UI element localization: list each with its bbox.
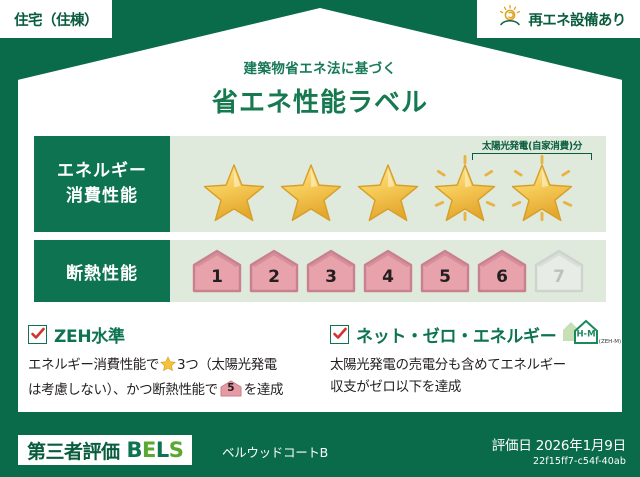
bels-letter-b: B: [127, 438, 143, 462]
net-zero-energy-header: ネット・ゼロ・エネルギー H-M (ZEH-M): [330, 322, 620, 346]
evaluation-info: 評価日 2026年1月9日 22f15ff7-c54f-40ab: [492, 434, 626, 467]
star-icon: [197, 152, 271, 224]
insulation-grade-badge: 6: [476, 249, 528, 293]
sun-icon: [497, 4, 523, 34]
inline-grade-badge: 5: [220, 380, 242, 397]
inline-grade-value: 5: [220, 380, 242, 397]
insulation-grade-badge: 7: [533, 249, 585, 293]
bels-letter-e: E: [142, 438, 156, 462]
bels-wordmark: BELS: [127, 438, 184, 462]
insulation-grade-value: 4: [382, 267, 394, 293]
star-rating: 太陽光発電(自家消費)分: [170, 136, 606, 232]
third-party-label: 第三者評価: [27, 437, 120, 464]
insulation-grade-value: 2: [268, 267, 280, 293]
net-zero-energy-body-line2: 収支がゼロ以下を達成: [330, 379, 461, 395]
renewable-equipment-chip: 再エネ設備あり: [477, 0, 640, 38]
zeh-checkbox: [28, 325, 47, 344]
insulation-grade-value: 7: [553, 267, 565, 293]
evaluation-date-label: 評価日: [492, 438, 532, 454]
insulation-grade-value: 5: [439, 267, 451, 293]
insulation-performance-row: 断熱性能 1 2 3 4 5 6 7: [34, 240, 606, 302]
evaluation-date: 評価日 2026年1月9日: [492, 434, 626, 454]
solar-annotation-text: 太陽光発電(自家消費)分: [464, 138, 600, 152]
svg-text:(ZEH-M): (ZEH-M): [599, 339, 621, 345]
star-icon: [274, 152, 348, 224]
energy-label-line2: 消費性能: [66, 184, 138, 209]
insulation-grade-value: 1: [211, 267, 223, 293]
energy-consumption-row: エネルギー 消費性能: [34, 136, 606, 232]
insulation-performance-label: 断熱性能: [34, 240, 170, 302]
label-subtitle: 建築物省エネ法に基づく: [0, 57, 640, 77]
net-zero-energy-checkbox: [330, 325, 349, 344]
dwelling-type-chip: 住宅（住棟）: [0, 0, 112, 38]
zeh-body-part3: を達成: [244, 382, 283, 398]
svg-text:H-M: H-M: [577, 330, 596, 340]
zeh-m-logo: H-M (ZEH-M): [561, 317, 623, 351]
energy-consumption-label: エネルギー 消費性能: [34, 136, 170, 232]
bels-letter-s: S: [169, 438, 184, 462]
insulation-label-text: 断熱性能: [66, 259, 138, 284]
insulation-grade-value: 3: [325, 267, 337, 293]
zeh-criteria-header: ZEH水準: [28, 322, 318, 346]
building-name: ベルウッドコートB: [222, 442, 328, 461]
page-title: 省エネ性能ラベル: [0, 82, 640, 119]
net-zero-energy-title: ネット・ゼロ・エネルギー: [356, 322, 556, 347]
bels-letter-l: L: [156, 438, 169, 462]
insulation-grade-scale: 1 2 3 4 5 6 7: [170, 240, 606, 302]
insulation-grade-badge: 3: [305, 249, 357, 293]
title-block: 建築物省エネ法に基づく 省エネ性能ラベル: [0, 57, 640, 119]
insulation-grade-badge: 5: [419, 249, 471, 293]
bels-footer-badge: 第三者評価 BELS: [18, 435, 192, 465]
renewable-equipment-label: 再エネ設備あり: [528, 9, 625, 30]
energy-performance-label: 住宅（住棟） 再エネ設備あり 建築物省エネ法に基づく 省エネ性能ラベル: [0, 0, 640, 477]
evaluation-date-value: 2026年1月9日: [536, 438, 626, 454]
energy-label-line1: エネルギー: [57, 159, 147, 184]
star-icon: [505, 152, 579, 224]
net-zero-energy-criteria-block: ネット・ゼロ・エネルギー H-M (ZEH-M) 太陽光発電の売電分も含めてエネ…: [330, 322, 620, 399]
evaluation-id: 22f15ff7-c54f-40ab: [492, 456, 626, 467]
insulation-grade-value: 6: [496, 267, 508, 293]
zeh-body-part1: エネルギー消費性能で: [28, 357, 159, 373]
net-zero-energy-body-line1: 太陽光発電の売電分も含めてエネルギー: [330, 357, 566, 373]
star-icon: [428, 152, 502, 224]
net-zero-energy-body: 太陽光発電の売電分も含めてエネルギー収支がゼロ以下を達成: [330, 355, 620, 399]
dwelling-type-label: 住宅（住棟）: [14, 9, 98, 30]
inline-star-icon: [160, 360, 176, 376]
zeh-body-stars-text: 3つ（太陽光発電: [177, 357, 277, 373]
zeh-body-part2: は考慮しない）、かつ断熱性能で: [28, 382, 218, 398]
insulation-grade-badge: 2: [248, 249, 300, 293]
zeh-criteria-title: ZEH水準: [54, 322, 125, 347]
insulation-grade-badge: 1: [191, 249, 243, 293]
star-icon: [351, 152, 425, 224]
zeh-criteria-block: ZEH水準 エネルギー消費性能で3つ（太陽光発電は考慮しない）、かつ断熱性能で5…: [28, 322, 318, 402]
insulation-grade-badge: 4: [362, 249, 414, 293]
zeh-criteria-body: エネルギー消費性能で3つ（太陽光発電は考慮しない）、かつ断熱性能で5を達成: [28, 355, 318, 402]
